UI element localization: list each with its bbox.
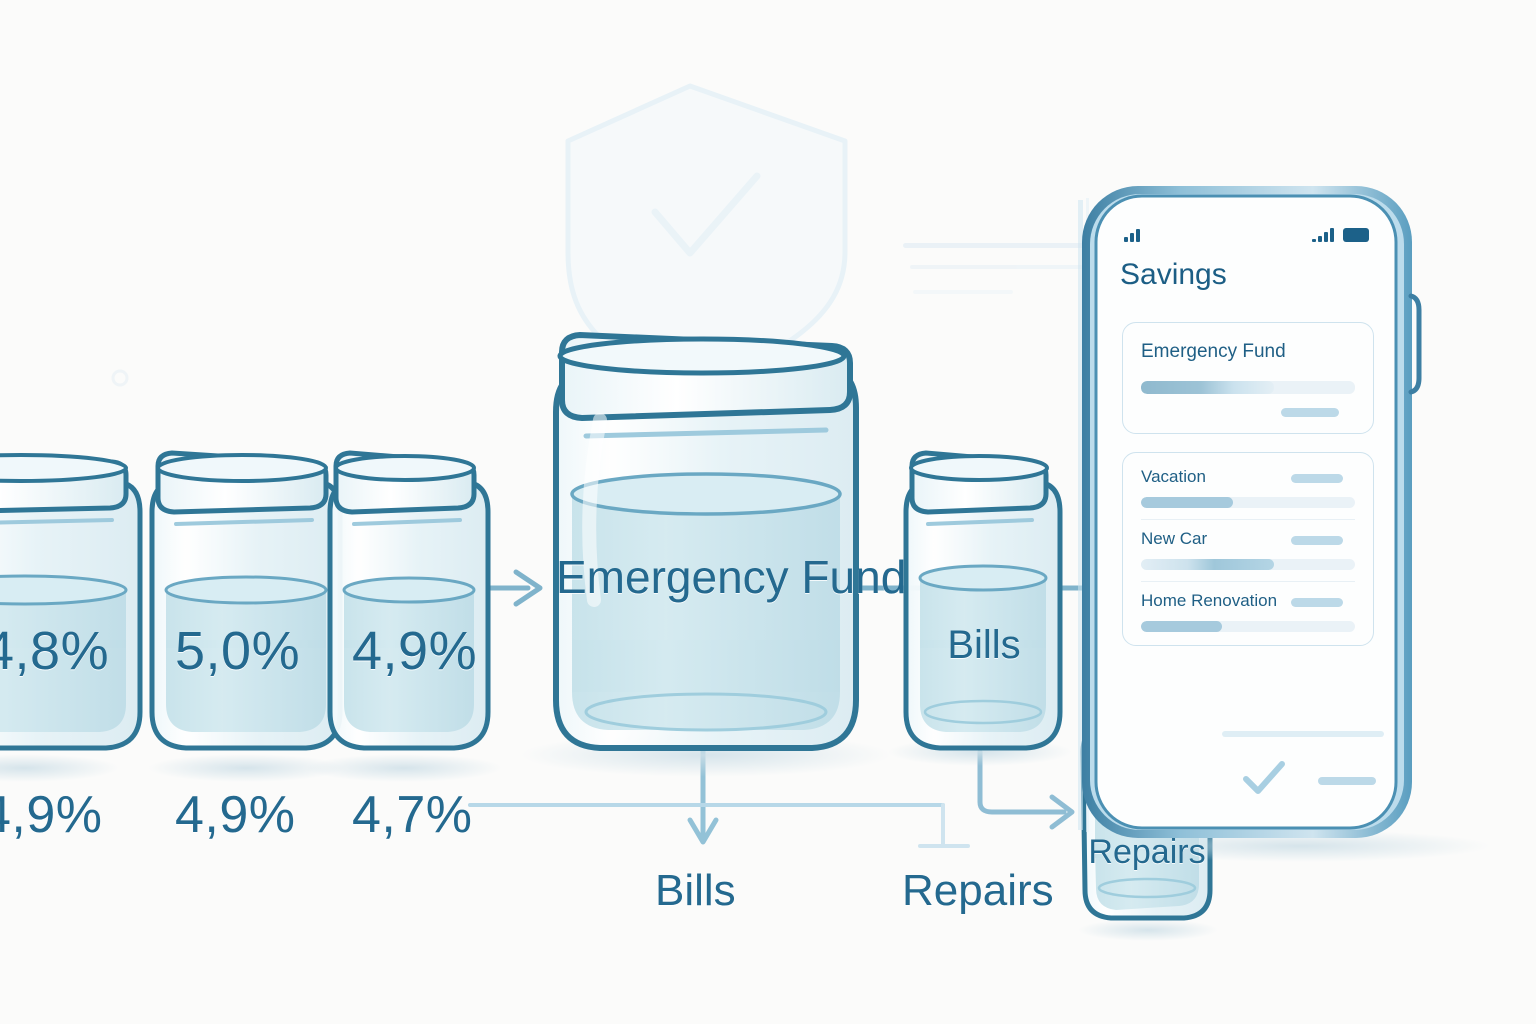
- jar-bills: [888, 453, 1072, 766]
- jar-repairs-label: Repairs: [1083, 833, 1211, 871]
- emergency-fund-card-label: Emergency Fund: [1141, 341, 1286, 363]
- goal-row-label-home-renovation: Home Renovation: [1141, 591, 1277, 611]
- jar-pct-1: [0, 453, 140, 782]
- flow-label-repairs: Repairs: [902, 866, 1054, 916]
- phone-screen: Savings Emergency Fund Vacation New Car: [1096, 196, 1396, 836]
- jar-pct-2-below-label: 4,9%: [175, 785, 296, 845]
- emergency-fund-amount-pill: [1281, 408, 1339, 417]
- goal-amount-pill-home-renovation: [1291, 598, 1343, 607]
- goal-progress-vacation: [1141, 497, 1355, 508]
- jar-pct-1-below-label: 4,9%: [0, 785, 103, 845]
- jar-bills-label: Bills: [906, 623, 1062, 668]
- goal-progress-new-car: [1141, 559, 1355, 570]
- jar-emergency-fund-label: Emergency Fund: [556, 552, 856, 604]
- jar-pct-2: [148, 453, 344, 782]
- jar-pct-3: [306, 453, 502, 782]
- jar-pct-2-inner-label: 5,0%: [175, 620, 300, 682]
- jar-pct-1-inner-label: 4,8%: [0, 620, 109, 682]
- emergency-fund-progress: [1141, 381, 1355, 394]
- goal-divider-1: [1141, 519, 1355, 520]
- emergency-fund-card[interactable]: Emergency Fund: [1122, 322, 1374, 434]
- goal-divider-2: [1141, 581, 1355, 582]
- screen-title: Savings: [1120, 258, 1227, 292]
- flow-label-bills: Bills: [655, 866, 736, 916]
- goal-progress-home-renovation: [1141, 621, 1355, 632]
- illustration-canvas: 4,8% 5,0% 4,9% 4,9% 4,9% 4,7% Emergency …: [0, 0, 1536, 1024]
- jar-pct-3-inner-label: 4,9%: [352, 620, 477, 682]
- jar-pct-3-below-label: 4,7%: [352, 785, 473, 845]
- goal-amount-pill-vacation: [1291, 474, 1343, 483]
- goal-row-label-vacation: Vacation: [1141, 467, 1206, 487]
- goal-amount-pill-new-car: [1291, 536, 1343, 545]
- savings-goals-card[interactable]: Vacation New Car Home Renovation: [1122, 452, 1374, 646]
- battery-icon: [1343, 228, 1369, 242]
- goal-row-label-new-car: New Car: [1141, 529, 1207, 549]
